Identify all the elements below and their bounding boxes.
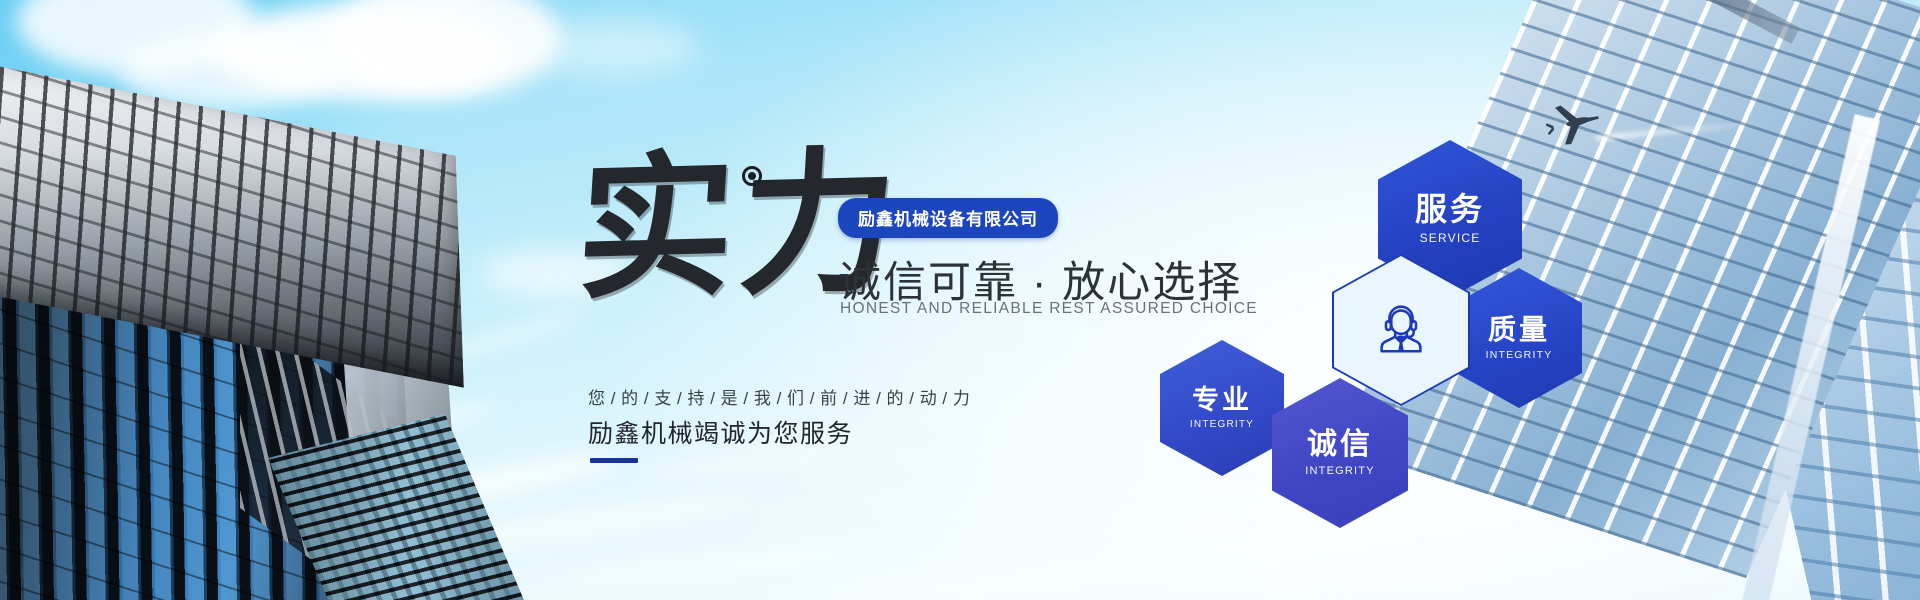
company-name-badge: 励鑫机械设备有限公司: [838, 198, 1058, 238]
support-tagline: 您 / 的 / 支 / 持 / 是 / 我 / 们 / 前 / 进 / 的 / …: [588, 384, 970, 409]
hexagon-professional-label: 专业: [1192, 386, 1252, 414]
hexagon-service-sublabel: SERVICE: [1420, 231, 1481, 245]
hexagon-customer-service-outline[interactable]: [1332, 254, 1470, 406]
hexagon-trust-label: 诚信: [1307, 429, 1373, 461]
left-skyscraper-image: [0, 58, 400, 600]
hexagon-professional-sublabel: INTEGRITY: [1190, 419, 1254, 430]
service-tagline: 励鑫机械竭诚为您服务: [588, 414, 853, 450]
slogan-english: HONEST AND RELIABLE REST ASSURED CHOICE: [840, 300, 1258, 318]
promo-banner: 实力 励鑫机械设备有限公司 诚信可靠 · 放心选择 HONEST AND REL…: [0, 0, 1920, 600]
airplane-icon: [1545, 98, 1609, 146]
cloud-shape: [520, 18, 700, 76]
hexagon-quality-sublabel: INTEGRITY: [1486, 349, 1553, 361]
accent-rule: [590, 458, 638, 463]
hexagon-quality-label: 质量: [1488, 315, 1550, 344]
hexagon-trust-sublabel: INTEGRITY: [1305, 465, 1374, 477]
circle-dot-icon: [742, 166, 762, 186]
hexagon-service-label: 服务: [1415, 193, 1485, 227]
customer-service-agent-icon: [1370, 297, 1432, 364]
